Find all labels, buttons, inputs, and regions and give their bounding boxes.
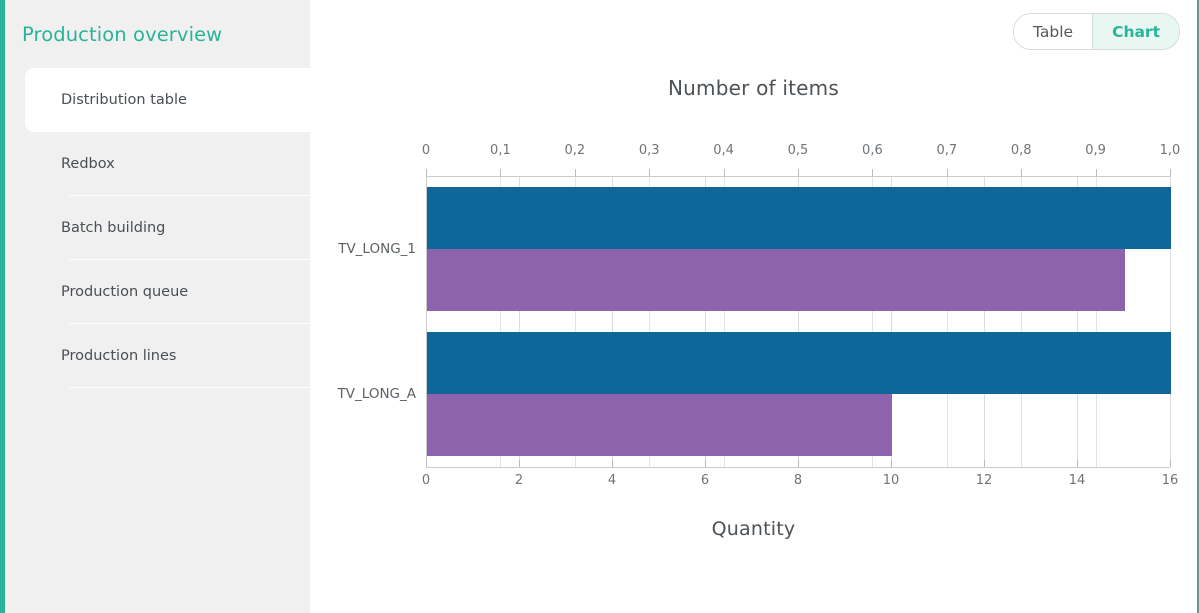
bar-quantity[interactable]: [427, 394, 892, 456]
top-axis-tick: [649, 169, 650, 176]
top-axis-tick-label: 0,3: [639, 143, 660, 158]
bar-items[interactable]: [427, 332, 1171, 394]
sidebar-item-distribution-table[interactable]: Distribution table: [25, 68, 310, 132]
bottom-axis-label: Quantity: [310, 518, 1197, 540]
sidebar-item-production-lines[interactable]: Production lines: [25, 324, 310, 388]
chart: Number of items TV_LONG_1TV_LONG_A 00,10…: [310, 0, 1197, 613]
bottom-axis-tick-label: 2: [515, 473, 523, 488]
bottom-axis-tick: [798, 460, 799, 467]
sidebar-item-production-queue[interactable]: Production queue: [25, 260, 310, 324]
top-axis-tick-label: 0,6: [862, 143, 883, 158]
top-axis-tick-label: 0,1: [490, 143, 511, 158]
bottom-axis-tick: [519, 460, 520, 467]
sidebar-divider: [69, 387, 310, 388]
top-axis-tick-label: 0,7: [936, 143, 957, 158]
top-axis-tick-label: 0: [422, 143, 430, 158]
sidebar-item-redbox[interactable]: Redbox: [25, 132, 310, 196]
sidebar-nav: Distribution table Redbox Batch building…: [5, 68, 310, 388]
top-axis-tick: [1170, 169, 1171, 176]
top-axis-tick-label: 0,9: [1085, 143, 1106, 158]
top-axis-tick: [872, 169, 873, 176]
bottom-axis-tick: [984, 460, 985, 467]
sidebar-item-label: Production queue: [61, 284, 188, 300]
bottom-axis-tick-label: 0: [422, 473, 430, 488]
category-label: TV_LONG_A: [338, 386, 416, 402]
plot-area: TV_LONG_1TV_LONG_A: [426, 176, 1170, 467]
sidebar-header: Production overview: [5, 0, 310, 68]
sidebar-item-batch-building[interactable]: Batch building: [25, 196, 310, 260]
bottom-axis-tick-label: 14: [1069, 473, 1086, 488]
chart-title: Number of items: [310, 76, 1197, 100]
top-axis-tick-label: 0,4: [713, 143, 734, 158]
top-axis-tick: [426, 169, 427, 176]
top-axis-tick: [1021, 169, 1022, 176]
bottom-axis-tick: [1170, 460, 1171, 467]
top-axis-tick: [575, 169, 576, 176]
bottom-axis-tick: [1077, 460, 1078, 467]
sidebar-item-label: Batch building: [61, 220, 165, 236]
top-axis-line: [426, 176, 1170, 177]
bottom-axis-tick-label: 10: [883, 473, 900, 488]
sidebar: Production overview Distribution table R…: [0, 0, 310, 613]
bottom-axis-tick-label: 8: [794, 473, 802, 488]
bottom-axis-tick-label: 16: [1162, 473, 1179, 488]
top-axis-tick-label: 1,0: [1160, 143, 1181, 158]
category-label: TV_LONG_1: [338, 241, 416, 257]
bottom-axis-tick-label: 4: [608, 473, 616, 488]
top-axis-tick: [724, 169, 725, 176]
sidebar-item-label: Redbox: [61, 156, 115, 172]
bottom-axis-tick: [891, 460, 892, 467]
bottom-axis-tick: [612, 460, 613, 467]
bottom-axis-line: [426, 467, 1170, 468]
sidebar-item-label: Distribution table: [61, 92, 187, 108]
main-content: Table Chart Number of items TV_LONG_1TV_…: [310, 0, 1199, 613]
top-axis-tick: [500, 169, 501, 176]
app-root: Production overview Distribution table R…: [0, 0, 1199, 613]
top-axis-tick: [798, 169, 799, 176]
bottom-axis-tick-label: 6: [701, 473, 709, 488]
bar-quantity[interactable]: [427, 249, 1125, 311]
top-axis-tick: [947, 169, 948, 176]
top-axis-tick-label: 0,8: [1011, 143, 1032, 158]
bar-items[interactable]: [427, 187, 1171, 249]
sidebar-item-label: Production lines: [61, 348, 176, 364]
bottom-axis-tick: [426, 460, 427, 467]
top-axis-tick-label: 0,2: [564, 143, 585, 158]
top-axis-tick: [1096, 169, 1097, 176]
bottom-axis-tick: [705, 460, 706, 467]
page-title: Production overview: [22, 23, 222, 46]
top-axis-tick-label: 0,5: [788, 143, 809, 158]
bottom-axis-tick-label: 12: [976, 473, 993, 488]
